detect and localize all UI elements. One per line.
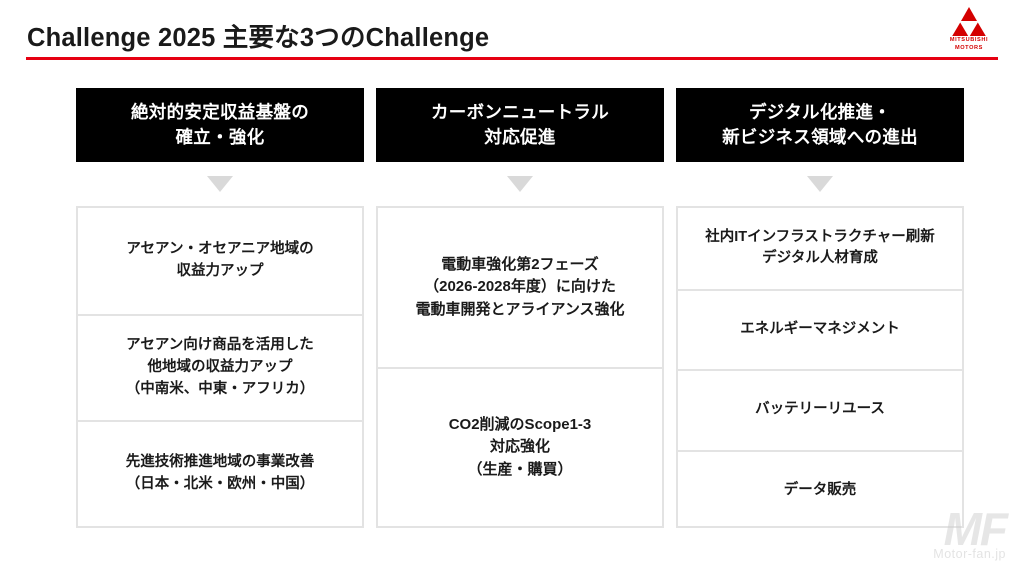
arrow-down-icon (507, 176, 533, 192)
item-line: エネルギーマネジメント (740, 319, 900, 341)
column-3-header: デジタル化推進・ 新ビジネス領域への進出 (676, 88, 964, 162)
list-item: データ販売 (678, 450, 962, 531)
list-item: 先進技術推進地域の事業改善 （日本・北米・欧州・中国） (78, 420, 362, 526)
item-line: データ販売 (784, 480, 857, 502)
item-line: アセアン・オセアニア地域の (126, 239, 313, 261)
challenge-column-3: デジタル化推進・ 新ビジネス領域への進出 社内ITインフラストラクチャー刷新 デ… (676, 88, 964, 528)
challenge-column-2: カーボンニュートラル 対応促進 電動車強化第2フェーズ （2026-2028年度… (376, 88, 664, 528)
challenge-columns: 絶対的安定収益基盤の 確立・強化 アセアン・オセアニア地域の 収益力アップ アセ… (0, 88, 1024, 558)
list-item: 社内ITインフラストラクチャー刷新 デジタル人材育成 (678, 208, 962, 289)
column-1-header-line-1: 絶対的安定収益基盤の (131, 100, 309, 125)
column-1-header-line-2: 確立・強化 (131, 125, 309, 150)
list-item: アセアン・オセアニア地域の 収益力アップ (78, 208, 362, 314)
item-line: アセアン向け商品を活用した (126, 335, 315, 357)
column-3-header-line-2: 新ビジネス領域への進出 (722, 125, 918, 150)
item-line: 対応強化 (449, 436, 592, 459)
arrow-down-icon (807, 176, 833, 192)
item-line: （日本・北米・欧州・中国） (126, 474, 315, 496)
challenge-column-1: 絶対的安定収益基盤の 確立・強化 アセアン・オセアニア地域の 収益力アップ アセ… (76, 88, 364, 528)
item-line: デジタル人材育成 (705, 248, 935, 270)
item-line: （2026-2028年度）に向けた (415, 276, 624, 299)
item-line: 収益力アップ (126, 261, 313, 283)
item-line: 電動車強化第2フェーズ (415, 254, 624, 277)
item-line: 電動車開発とアライアンス強化 (415, 299, 624, 322)
item-line: （生産・購買） (449, 459, 592, 482)
column-2-header: カーボンニュートラル 対応促進 (376, 88, 664, 162)
list-item: アセアン向け商品を活用した 他地域の収益力アップ （中南米、中東・アフリカ） (78, 314, 362, 420)
column-1-arrow (76, 162, 364, 206)
item-line: 先進技術推進地域の事業改善 (126, 452, 315, 474)
page-title: Challenge 2025 主要な3つのChallenge (27, 17, 489, 54)
column-3-header-line-1: デジタル化推進・ (722, 100, 918, 125)
list-item: エネルギーマネジメント (678, 289, 962, 370)
column-1-header: 絶対的安定収益基盤の 確立・強化 (76, 88, 364, 162)
item-line: （中南米、中東・アフリカ） (126, 379, 315, 401)
column-2-header-line-2: 対応促進 (431, 125, 609, 150)
brand-name-line1: MITSUBISHI (936, 37, 1002, 44)
column-2-arrow (376, 162, 664, 206)
arrow-down-icon (207, 176, 233, 192)
item-line: CO2削減のScope1-3 (449, 414, 592, 437)
list-item: バッテリーリユース (678, 369, 962, 450)
column-1-items: アセアン・オセアニア地域の 収益力アップ アセアン向け商品を活用した 他地域の収… (76, 206, 364, 528)
list-item: 電動車強化第2フェーズ （2026-2028年度）に向けた 電動車開発とアライア… (378, 208, 662, 367)
item-line: バッテリーリユース (755, 399, 885, 421)
brand-name-line2: MOTORS (936, 45, 1002, 52)
list-item: CO2削減のScope1-3 対応強化 （生産・購買） (378, 367, 662, 526)
three-diamonds-icon (952, 6, 986, 36)
header-divider (26, 57, 998, 60)
item-line: 他地域の収益力アップ (126, 357, 315, 379)
column-2-header-line-1: カーボンニュートラル (431, 100, 609, 125)
mitsubishi-motors-logo: MITSUBISHI MOTORS (936, 6, 1002, 52)
column-3-arrow (676, 162, 964, 206)
item-line: 社内ITインフラストラクチャー刷新 (705, 227, 935, 249)
column-3-items: 社内ITインフラストラクチャー刷新 デジタル人材育成 エネルギーマネジメント バ… (676, 206, 964, 528)
column-2-items: 電動車強化第2フェーズ （2026-2028年度）に向けた 電動車開発とアライア… (376, 206, 664, 528)
page-header: Challenge 2025 主要な3つのChallenge MITSUBISH… (0, 0, 1024, 62)
